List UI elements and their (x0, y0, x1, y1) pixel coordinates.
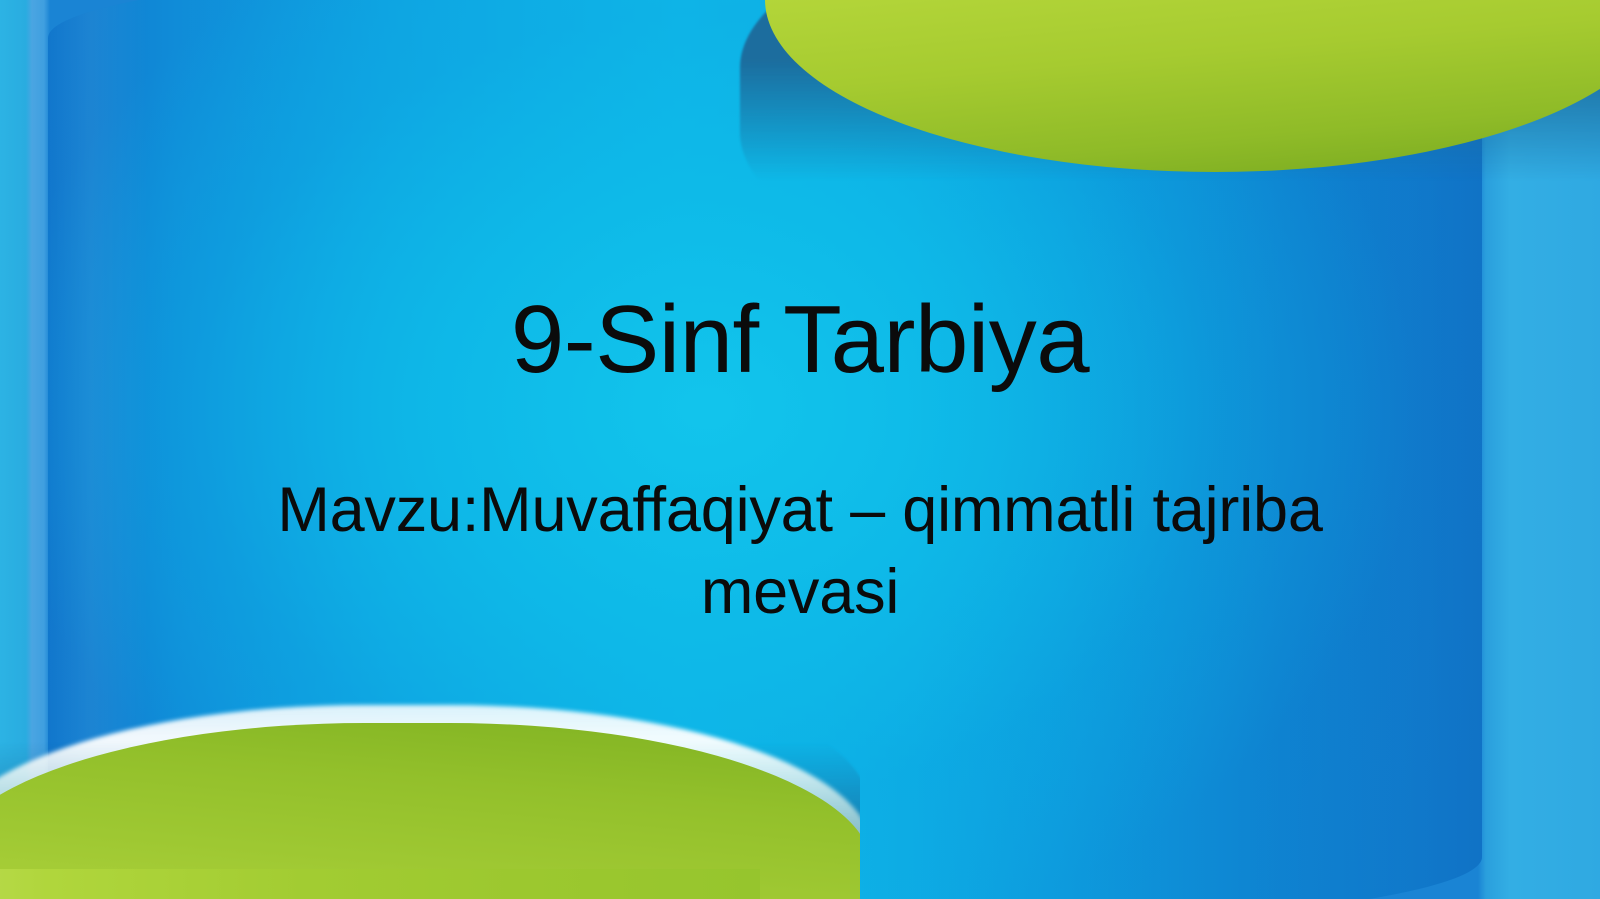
presentation-slide: 9-Sinf Tarbiya Mavzu:Muvaffaqiyat – qimm… (0, 0, 1600, 899)
slide-subtitle: Mavzu:Muvaffaqiyat – qimmatli tajriba me… (210, 470, 1390, 634)
slide-title: 9-Sinf Tarbiya (200, 292, 1400, 388)
slide-content: 9-Sinf Tarbiya Mavzu:Muvaffaqiyat – qimm… (0, 0, 1600, 899)
